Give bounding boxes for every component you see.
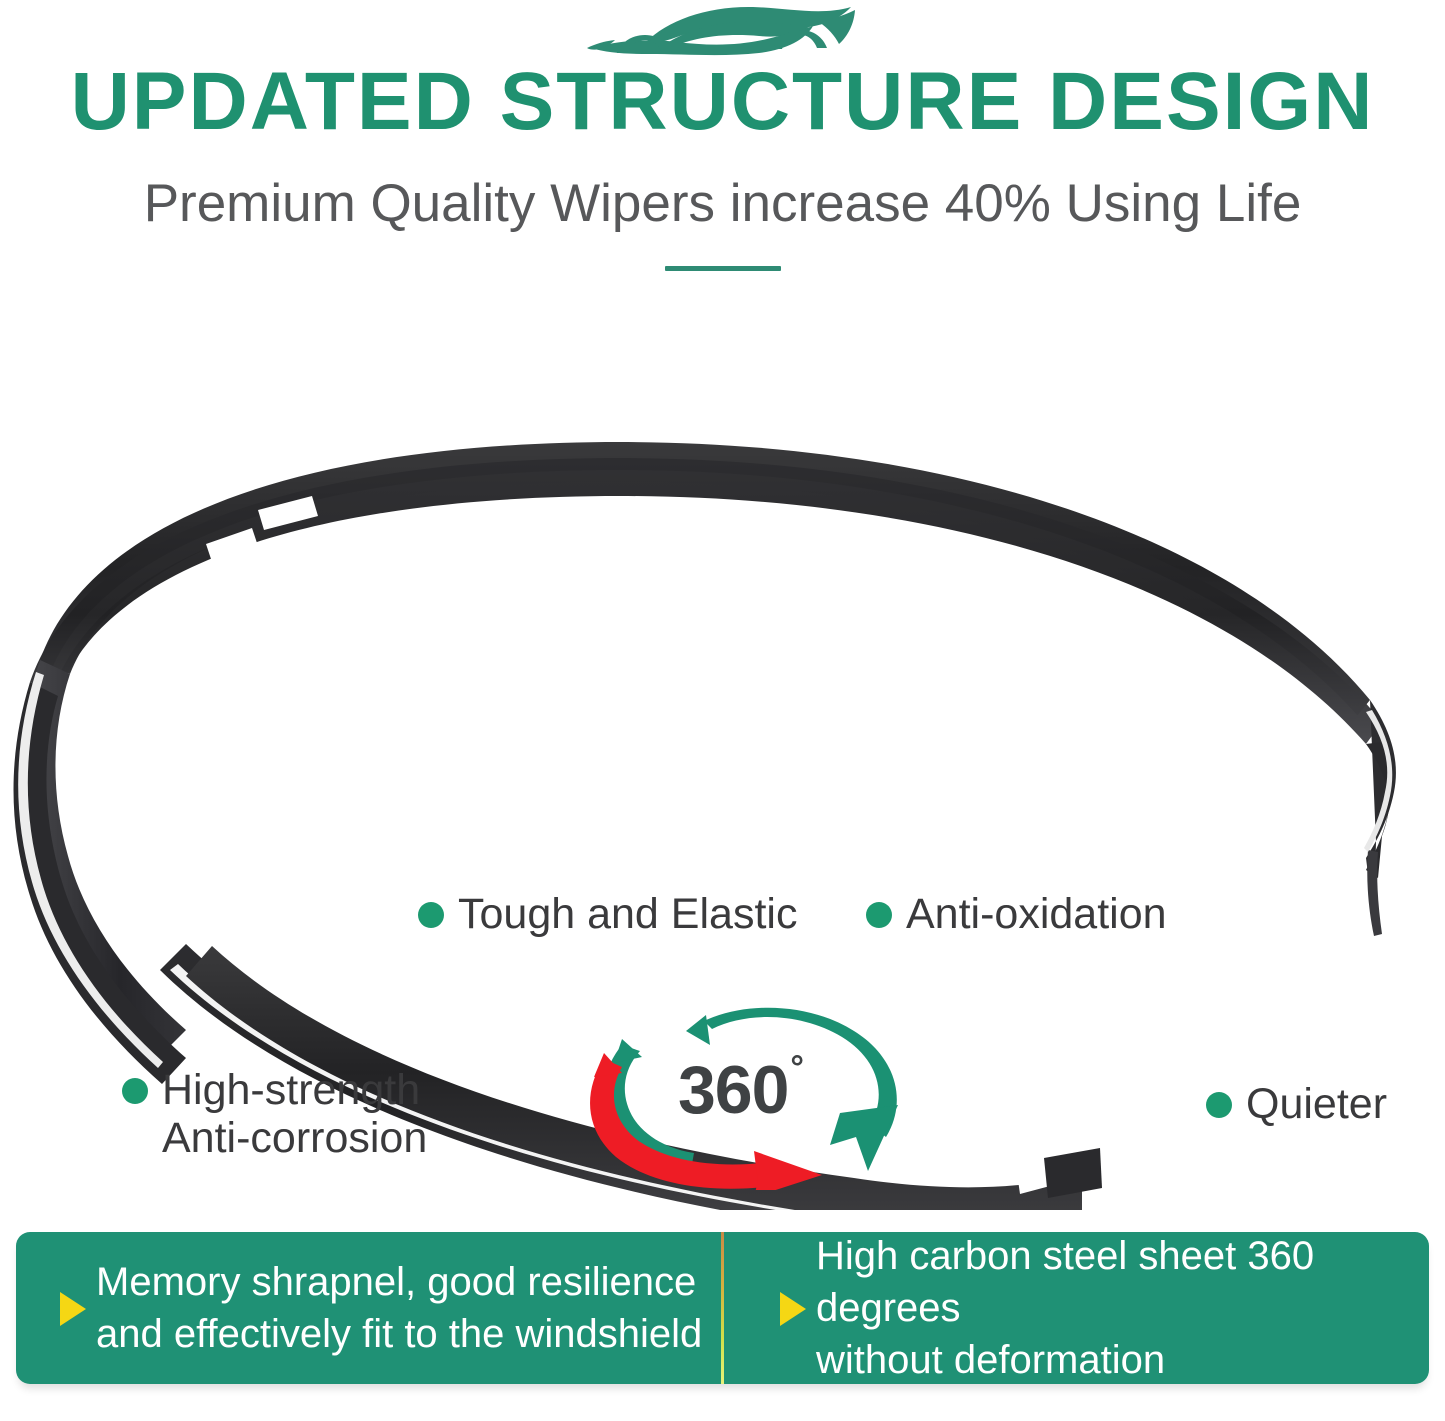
banner-text-line2: without deformation bbox=[816, 1334, 1429, 1384]
triangle-bullet-icon bbox=[780, 1292, 806, 1326]
banner-text-line1: High carbon steel sheet 360 degrees bbox=[816, 1234, 1314, 1330]
page-title: UPDATED STRUCTURE DESIGN bbox=[0, 58, 1445, 146]
product-illustration-area: Tough and Elastic Anti-oxidation High-st… bbox=[0, 330, 1445, 1210]
feature-anti-oxidation: Anti-oxidation bbox=[866, 890, 1167, 938]
bottom-feature-banner: Memory shrapnel, good resilienceand effe… bbox=[16, 1232, 1429, 1384]
banner-item-high-carbon-steel: High carbon steel sheet 360 degreeswitho… bbox=[724, 1232, 1429, 1384]
bullet-dot-icon bbox=[418, 902, 444, 928]
feature-label: Tough and Elastic bbox=[458, 890, 797, 938]
badge-360-degrees: 360 ° bbox=[578, 985, 918, 1190]
banner-text-line1: Memory shrapnel, good resilience bbox=[96, 1260, 696, 1304]
banner-text: Memory shrapnel, good resilienceand effe… bbox=[96, 1256, 702, 1360]
bullet-dot-icon bbox=[1206, 1092, 1232, 1118]
feature-high-strength-anti-corrosion: High-strengthAnti-corrosion bbox=[122, 1066, 427, 1162]
feature-tough-and-elastic: Tough and Elastic bbox=[418, 890, 797, 938]
bullet-dot-icon bbox=[122, 1078, 148, 1104]
feature-quieter: Quieter bbox=[1206, 1080, 1387, 1128]
page-subtitle: Premium Quality Wipers increase 40% Usin… bbox=[0, 172, 1445, 236]
banner-text-line2: and effectively fit to the windshield bbox=[96, 1308, 702, 1360]
feature-label-line1: High-strength bbox=[162, 1066, 420, 1114]
title-divider-rule bbox=[665, 266, 781, 271]
feature-label-multiline: High-strengthAnti-corrosion bbox=[162, 1066, 427, 1162]
header-section: UPDATED STRUCTURE DESIGN Premium Quality… bbox=[0, 0, 1445, 300]
banner-text: High carbon steel sheet 360 degreeswitho… bbox=[816, 1232, 1429, 1384]
car-silhouette-icon bbox=[573, 4, 873, 62]
banner-item-memory-shrapnel: Memory shrapnel, good resilienceand effe… bbox=[16, 1232, 721, 1384]
triangle-bullet-icon bbox=[60, 1292, 86, 1326]
feature-label: Quieter bbox=[1246, 1080, 1387, 1128]
bullet-dot-icon bbox=[866, 902, 892, 928]
feature-label: Anti-oxidation bbox=[906, 890, 1167, 938]
feature-label-line2: Anti-corrosion bbox=[162, 1114, 427, 1162]
